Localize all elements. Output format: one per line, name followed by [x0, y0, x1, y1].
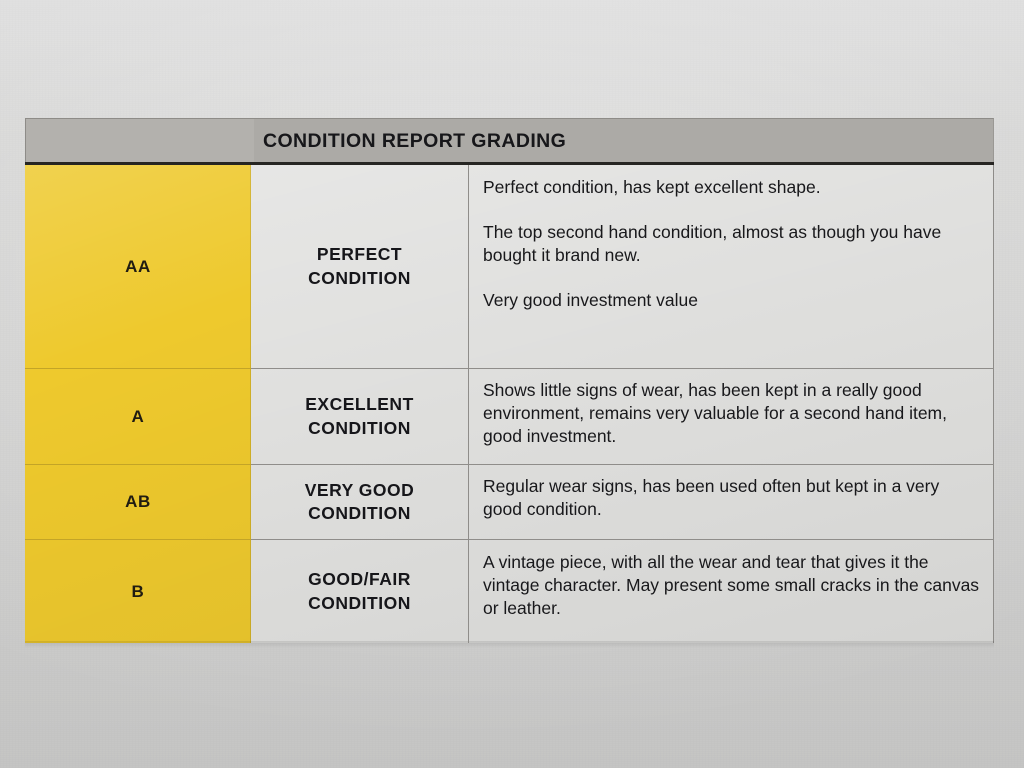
condition-name-line1: PERFECT [317, 243, 402, 266]
table-row[interactable]: PERFECT CONDITION Perfect condition, has… [251, 165, 994, 368]
condition-name-line1: VERY GOOD [305, 479, 415, 502]
description-cell-aa: Perfect condition, has kept excellent sh… [469, 165, 994, 368]
table-header: CONDITION REPORT GRADING [25, 118, 994, 163]
description-paragraph: A vintage piece, with all the wear and t… [483, 551, 980, 620]
condition-name-line2: CONDITION [308, 502, 411, 525]
grade-label: AA [125, 257, 151, 277]
grade-cell-aa[interactable]: AA [25, 165, 251, 368]
table-row[interactable]: VERY GOOD CONDITION Regular wear signs, … [251, 464, 994, 539]
grade-cell-a[interactable]: A [25, 368, 251, 464]
condition-name-line2: CONDITION [308, 417, 411, 440]
condition-name-line1: EXCELLENT [305, 393, 414, 416]
table-header-title: CONDITION REPORT GRADING [254, 130, 993, 153]
condition-name-line2: CONDITION [308, 592, 411, 615]
description-paragraph: Shows little signs of wear, has been kep… [483, 379, 980, 448]
condition-name-line1: GOOD/FAIR [308, 568, 411, 591]
condition-cell-ab: VERY GOOD CONDITION [251, 465, 469, 539]
table-header-left-spacer [26, 119, 254, 163]
condition-report-grading-table: CONDITION REPORT GRADING AA A AB B PERFE… [25, 118, 994, 643]
condition-cell-b: GOOD/FAIR CONDITION [251, 540, 469, 643]
description-paragraph: Regular wear signs, has been used often … [483, 475, 980, 521]
grade-label: AB [125, 492, 151, 512]
condition-cell-a: EXCELLENT CONDITION [251, 369, 469, 464]
description-cell-ab: Regular wear signs, has been used often … [469, 465, 994, 539]
grade-cell-ab[interactable]: AB [25, 464, 251, 539]
description-cell-b: A vintage piece, with all the wear and t… [469, 540, 994, 643]
description-paragraph: The top second hand condition, almost as… [483, 221, 980, 267]
description-paragraph: Perfect condition, has kept excellent sh… [483, 176, 980, 199]
condition-name-line2: CONDITION [308, 267, 411, 290]
description-paragraph: Very good investment value [483, 289, 980, 312]
table-body: AA A AB B PERFECT CONDITION Perfect cond… [25, 165, 994, 643]
condition-cell-aa: PERFECT CONDITION [251, 165, 469, 368]
description-cell-a: Shows little signs of wear, has been kep… [469, 369, 994, 464]
table-row[interactable]: GOOD/FAIR CONDITION A vintage piece, wit… [251, 539, 994, 643]
grade-label: B [132, 582, 145, 602]
table-row[interactable]: EXCELLENT CONDITION Shows little signs o… [251, 368, 994, 464]
grade-label: A [132, 407, 145, 427]
grade-cell-b[interactable]: B [25, 539, 251, 643]
